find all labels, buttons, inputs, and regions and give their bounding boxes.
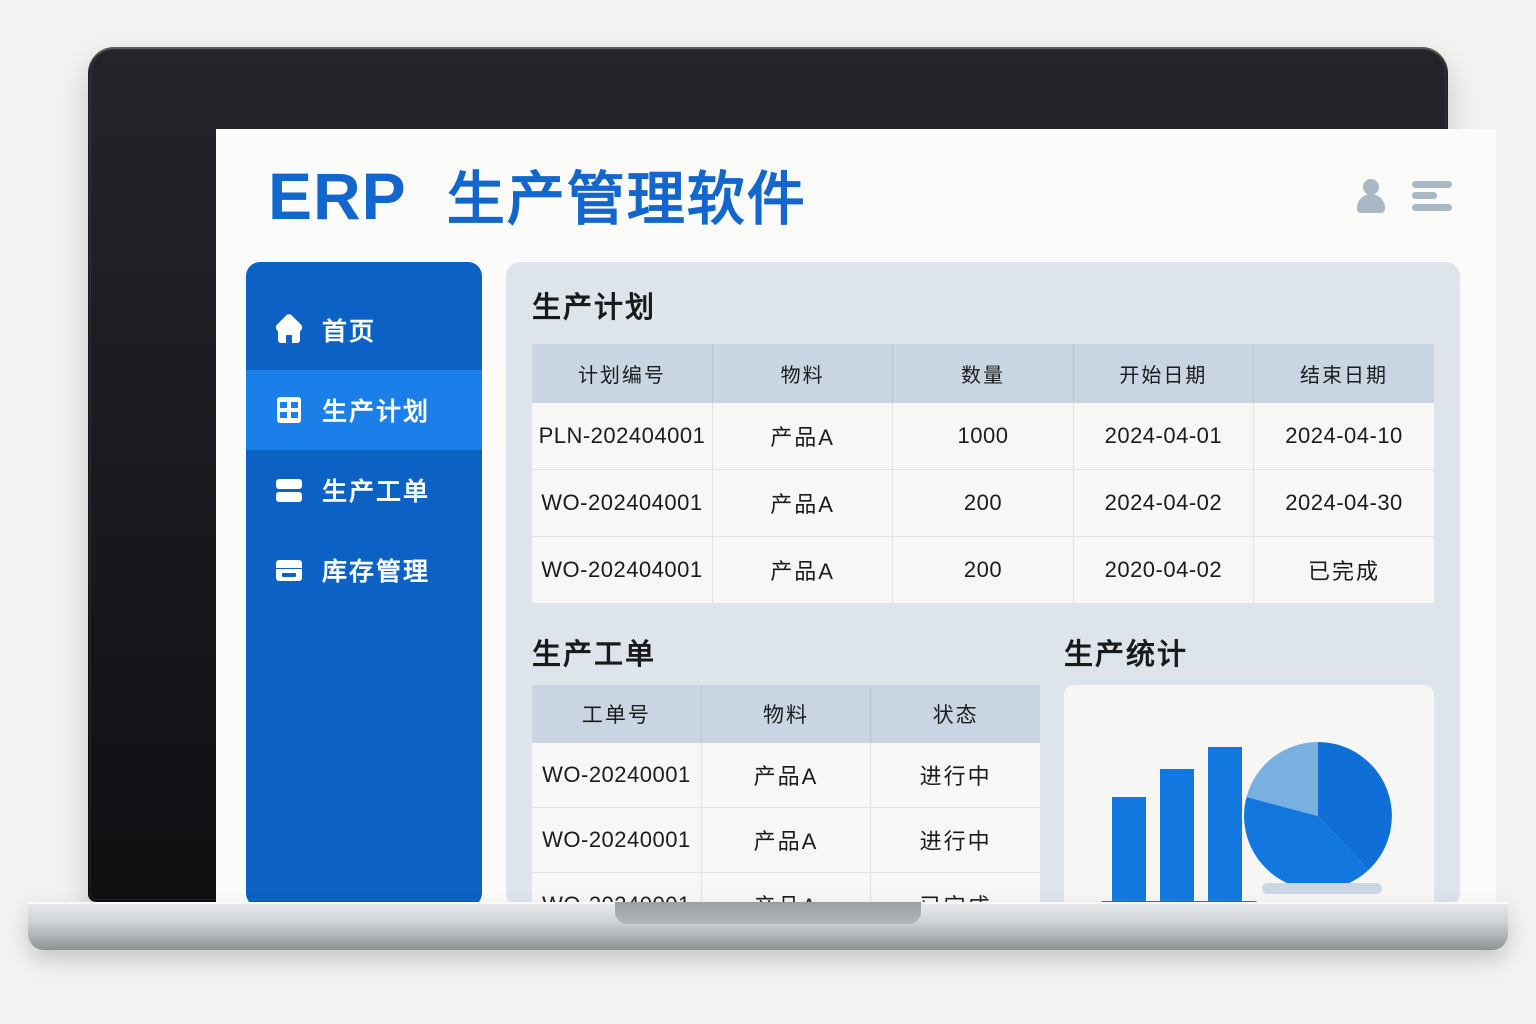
status-badge: 进行中	[871, 808, 1040, 873]
sidebar-item-label-inventory: 库存管理	[322, 552, 430, 588]
plan-cell-qty: 1000	[893, 403, 1073, 470]
table-row[interactable]: WO-202404001 产品A 200 2024-04-02 2024-04-…	[532, 470, 1434, 537]
plan-cell-material: 产品A	[712, 403, 892, 470]
bar-chart	[1100, 747, 1258, 908]
table-row[interactable]: WO-20240001 产品A 进行中	[532, 743, 1040, 808]
table-row[interactable]: WO-20240001 产品A 进行中	[532, 808, 1040, 873]
sidebar-item-work-order[interactable]: 生产工单	[246, 450, 482, 530]
plan-col-start: 开始日期	[1073, 344, 1253, 403]
plan-cell-start: 2020-04-02	[1073, 537, 1253, 604]
workorder-section-title: 生产工单	[532, 631, 1040, 673]
inventory-box-icon	[274, 555, 304, 585]
sidebar-item-label-work-order: 生产工单	[322, 472, 430, 508]
plan-cell-code: WO-202404001	[532, 537, 712, 604]
app-header: ERP 生产管理软件	[216, 129, 1496, 262]
statistics-section: 生产统计	[1064, 631, 1434, 939]
content-panel: 生产计划 计划编号 物料 数量 开始日期 结束日期	[506, 262, 1460, 907]
production-plan-table: 计划编号 物料 数量 开始日期 结束日期 PLN-202404001 产品A	[532, 344, 1434, 603]
plan-header-row: 计划编号 物料 数量 开始日期 结束日期	[532, 344, 1434, 403]
plan-cell-material: 产品A	[712, 537, 892, 604]
sidebar-item-production-plan[interactable]: 生产计划	[246, 370, 482, 450]
wo-col-id: 工单号	[532, 685, 701, 743]
menu-line-3	[1412, 204, 1452, 211]
plan-table-head: 计划编号 物料 数量 开始日期 结束日期	[532, 344, 1434, 403]
menu-line-1	[1412, 181, 1452, 188]
stats-section-title: 生产统计	[1064, 631, 1434, 673]
screenshot-stage: ERP 生产管理软件	[0, 0, 1536, 1024]
user-icon[interactable]	[1356, 179, 1386, 213]
plan-cell-start: 2024-04-02	[1073, 470, 1253, 537]
plan-cell-code: PLN-202404001	[532, 403, 712, 470]
work-order-section: 生产工单 工单号 物料 状态	[532, 631, 1040, 939]
plan-cell-end: 2024-04-10	[1254, 403, 1434, 470]
user-icon-head	[1363, 179, 1379, 195]
brand-erp-label: ERP	[268, 163, 407, 229]
statistics-chart	[1064, 685, 1434, 939]
brand: ERP 生产管理软件	[268, 163, 807, 229]
plan-col-end: 结束日期	[1254, 344, 1434, 403]
work-order-table: 工单号 物料 状态 WO-20240001 产品A 进行	[532, 685, 1040, 939]
list-icon	[274, 475, 304, 505]
plan-col-code: 计划编号	[532, 344, 712, 403]
plan-cell-qty: 200	[893, 470, 1073, 537]
wo-table-head: 工单号 物料 状态	[532, 685, 1040, 743]
sidebar-item-label-production-plan: 生产计划	[322, 392, 430, 428]
wo-cell-material: 产品A	[701, 743, 870, 808]
plan-table-body: PLN-202404001 产品A 1000 2024-04-01 2024-0…	[532, 403, 1434, 603]
pie-chart	[1244, 742, 1392, 890]
calendar-plan-icon	[274, 395, 304, 425]
user-icon-body	[1357, 194, 1385, 213]
wo-col-material: 物料	[701, 685, 870, 743]
sidebar: 首页 生产计划 生产工单	[246, 262, 482, 907]
table-row[interactable]: PLN-202404001 产品A 1000 2024-04-01 2024-0…	[532, 403, 1434, 470]
plan-cell-code: WO-202404001	[532, 470, 712, 537]
sidebar-item-home[interactable]: 首页	[246, 290, 482, 370]
wo-cell-id: WO-20240001	[532, 808, 701, 873]
plan-col-material: 物料	[712, 344, 892, 403]
page-title: 生产管理软件	[447, 171, 807, 229]
wo-header-row: 工单号 物料 状态	[532, 685, 1040, 743]
wo-cell-id: WO-20240001	[532, 743, 701, 808]
wo-cell-material: 产品A	[701, 808, 870, 873]
laptop-lid: ERP 生产管理软件	[88, 47, 1448, 902]
laptop-screen: ERP 生产管理软件	[216, 129, 1496, 939]
home-icon	[274, 315, 304, 345]
plan-col-qty: 数量	[893, 344, 1073, 403]
lower-sections: 生产工单 工单号 物料 状态	[532, 631, 1434, 939]
hamburger-menu-icon[interactable]	[1412, 181, 1452, 211]
wo-col-status: 状态	[871, 685, 1040, 743]
sidebar-item-label-home: 首页	[322, 312, 376, 348]
sidebar-item-inventory[interactable]: 库存管理	[246, 530, 482, 610]
header-actions	[1356, 179, 1452, 213]
laptop-base-notch	[615, 902, 921, 924]
plan-cell-qty: 200	[893, 537, 1073, 604]
plan-cell-end: 已完成	[1254, 537, 1434, 604]
status-badge: 进行中	[871, 743, 1040, 808]
plan-cell-start: 2024-04-01	[1073, 403, 1253, 470]
plan-cell-end: 2024-04-30	[1254, 470, 1434, 537]
app-body: 首页 生产计划 生产工单	[216, 262, 1496, 939]
plan-cell-material: 产品A	[712, 470, 892, 537]
statistics-chart-card[interactable]	[1064, 685, 1434, 939]
table-row[interactable]: WO-202404001 产品A 200 2020-04-02 已完成	[532, 537, 1434, 604]
menu-line-2	[1412, 192, 1437, 199]
plan-section-title: 生产计划	[532, 284, 1434, 326]
